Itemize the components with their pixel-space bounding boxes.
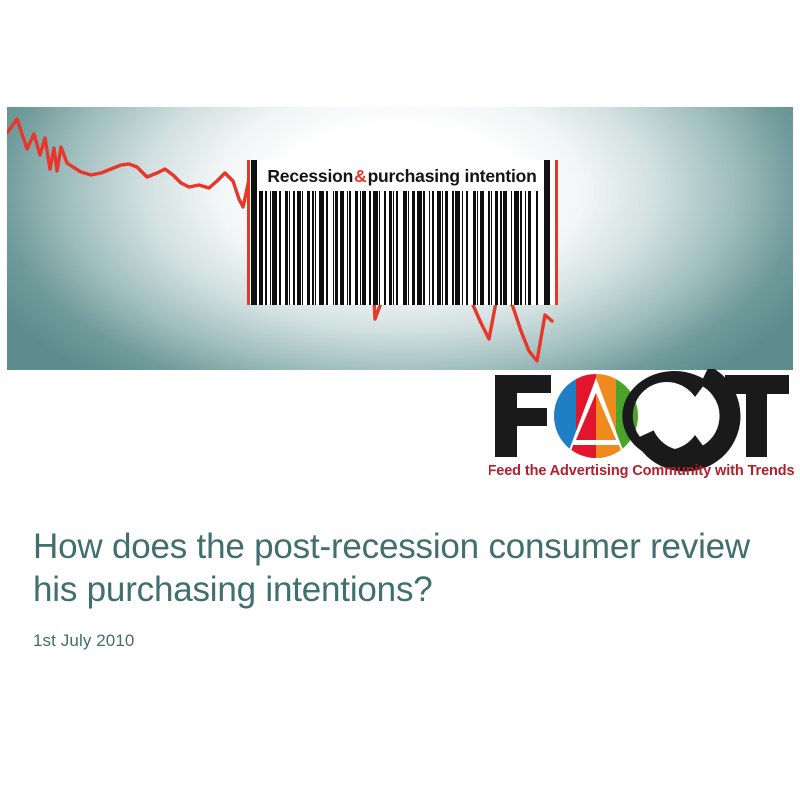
barcode-bar xyxy=(319,191,324,305)
barcode-bar xyxy=(520,191,522,305)
barcode-bar xyxy=(384,191,386,305)
barcode-bar xyxy=(437,191,441,305)
barcode-bar xyxy=(452,191,454,305)
banner-headline-word-1: Recession xyxy=(267,166,353,187)
barcode-bar xyxy=(500,191,502,305)
barcode-bar xyxy=(326,191,328,305)
barcode-graphic: Recession & purchasing intention xyxy=(247,160,558,305)
barcode-bar xyxy=(285,191,288,305)
barcode-bar xyxy=(307,191,310,305)
barcode-bar xyxy=(525,191,526,305)
barcode-rail-right xyxy=(555,160,558,305)
barcode-bar xyxy=(480,191,484,305)
barcode-bar xyxy=(293,191,295,305)
barcode-bar xyxy=(462,191,463,305)
barcode-bar xyxy=(302,191,303,305)
fact-logo-graphic: Feed the Advertising Community with Tren… xyxy=(489,369,794,481)
barcode-bar xyxy=(396,191,398,305)
barcode-bar xyxy=(408,191,409,305)
barcode-bar xyxy=(393,191,394,305)
logo-letter-f xyxy=(495,375,551,457)
page-date: 1st July 2010 xyxy=(33,630,134,652)
trend-line-left xyxy=(7,119,251,207)
barcode-bar xyxy=(536,191,538,305)
barcode-bar xyxy=(360,191,361,305)
barcode-bar xyxy=(389,191,392,305)
barcode-bar xyxy=(528,191,531,305)
barcode-bar xyxy=(373,191,378,305)
banner-headline-ampersand: & xyxy=(353,166,367,187)
page-title: How does the post-recession consumer rev… xyxy=(33,525,763,611)
barcode-rail-left xyxy=(247,160,250,305)
barcode-bar xyxy=(315,191,316,305)
logo-tagline: Feed the Advertising Community with Tren… xyxy=(489,463,794,479)
barcode-bar xyxy=(265,191,267,305)
barcode-bar xyxy=(442,191,443,305)
barcode-bar xyxy=(335,191,338,305)
barcode-bar xyxy=(362,191,366,305)
barcode-bar xyxy=(379,191,380,305)
barcode-bar xyxy=(503,191,507,305)
barcode-guard-right xyxy=(544,160,550,305)
barcode-bar xyxy=(333,191,334,305)
barcode-bar xyxy=(477,191,478,305)
barcode-bar xyxy=(272,191,277,305)
barcode-bar xyxy=(340,191,344,305)
barcode-guard-left xyxy=(251,160,257,305)
barcode-bar xyxy=(349,191,351,305)
barcode-bar xyxy=(429,191,430,305)
barcode-bar xyxy=(417,191,422,305)
barcode-bar xyxy=(423,191,425,305)
barcode-bar xyxy=(473,191,476,305)
barcode-bar xyxy=(466,191,468,305)
slide-root: Recession & purchasing intention xyxy=(0,0,800,800)
banner-headline-word-2: purchasing intention xyxy=(368,166,537,187)
barcode-bar xyxy=(289,191,290,305)
barcode-bar xyxy=(445,191,448,305)
fact-logo: Feed the Advertising Community with Tren… xyxy=(489,369,794,481)
barcode-bar xyxy=(495,191,498,305)
barcode-bar xyxy=(347,191,348,305)
barcode-bar xyxy=(488,191,490,305)
barcode-bar xyxy=(259,191,263,305)
barcode-bar xyxy=(312,191,314,305)
barcode-bar xyxy=(432,191,434,305)
barcode-bars xyxy=(259,191,542,305)
barcode-bar xyxy=(511,191,512,305)
barcode-bar xyxy=(355,191,358,305)
barcode-bar xyxy=(279,191,281,305)
barcode-bar xyxy=(270,191,271,305)
banner-headline: Recession & purchasing intention xyxy=(261,162,543,190)
hero-banner: Recession & purchasing intention xyxy=(7,107,793,370)
barcode-bar xyxy=(369,191,371,305)
barcode-bar xyxy=(412,191,415,305)
barcode-bar xyxy=(514,191,519,305)
barcode-bar xyxy=(297,191,301,305)
barcode-bar xyxy=(455,191,460,305)
barcode-bar xyxy=(403,191,407,305)
barcode-bar xyxy=(491,191,492,305)
